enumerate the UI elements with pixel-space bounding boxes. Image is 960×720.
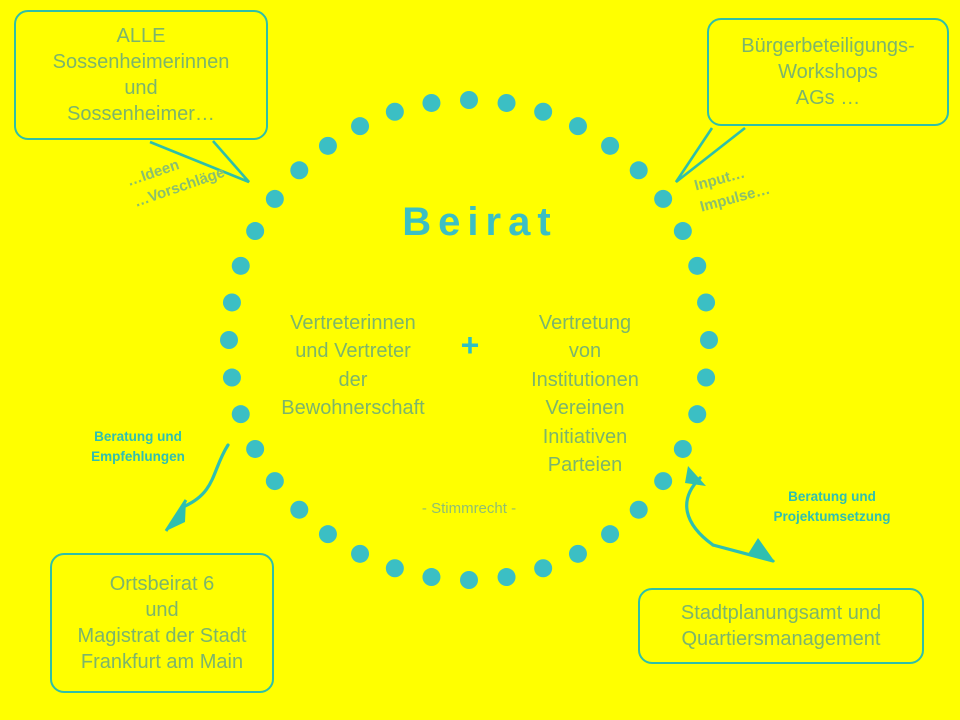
circle-dot [569,545,587,563]
circle-dot [601,137,619,155]
speech-bubble-workshops: Bürgerbeteiligungs- Workshops AGs … [707,18,949,126]
box-stadtplanung-text: Stadtplanungsamt und Quartiersmanagement [681,600,881,652]
label-beratung-projektumsetzung: Beratung und Projektumsetzung [742,487,922,526]
center-footnote: - Stimmrecht - [369,500,569,517]
circle-dot [266,472,284,490]
circle-dot [232,257,250,275]
circle-dot [460,571,478,589]
circle-dot [697,293,715,311]
circle-dot [319,525,337,543]
circle-dot [460,91,478,109]
circle-dot [630,161,648,179]
circle-dot [534,559,552,577]
speech-bubble-citizens-text: ALLE Sossenheimerinnen und Sossenheimer… [53,23,230,127]
center-column-right: Vertretung von Institutionen Vereinen In… [500,309,670,479]
circle-dot [386,559,404,577]
diagram-canvas: ALLE Sossenheimerinnen und Sossenheimer…… [0,0,960,720]
circle-dot [223,369,241,387]
circle-dot [697,369,715,387]
circle-dot [498,568,516,586]
circle-dot [498,94,516,112]
circle-dot [569,117,587,135]
circle-dot [220,331,238,349]
circle-dot [351,117,369,135]
plus-icon: + [446,329,494,361]
circle-dot [223,293,241,311]
circle-dot [386,103,404,121]
circle-dot [422,568,440,586]
circle-dot [351,545,369,563]
circle-dot [422,94,440,112]
circle-dot [601,525,619,543]
circle-dot [290,501,308,519]
circle-dot [290,161,308,179]
circle-dot [630,501,648,519]
speech-bubble-workshops-text: Bürgerbeteiligungs- Workshops AGs … [741,33,914,111]
box-stadtplanung: Stadtplanungsamt und Quartiersmanagement [638,588,924,664]
circle-dot [674,440,692,458]
speech-bubble-citizens: ALLE Sossenheimerinnen und Sossenheimer… [14,10,268,140]
box-ortsbeirat: Ortsbeirat 6 und Magistrat der Stadt Fra… [50,553,274,693]
center-column-left: Vertreterinnen und Vertreter der Bewohne… [268,309,438,423]
circle-dot [700,331,718,349]
circle-dot [232,405,250,423]
circle-dot [534,103,552,121]
circle-dot [319,137,337,155]
circle-dot [688,405,706,423]
box-ortsbeirat-text: Ortsbeirat 6 und Magistrat der Stadt Fra… [78,571,247,675]
label-beratung-empfehlungen: Beratung und Empfehlungen [58,427,218,466]
circle-dot [688,257,706,275]
circle-dot [246,440,264,458]
